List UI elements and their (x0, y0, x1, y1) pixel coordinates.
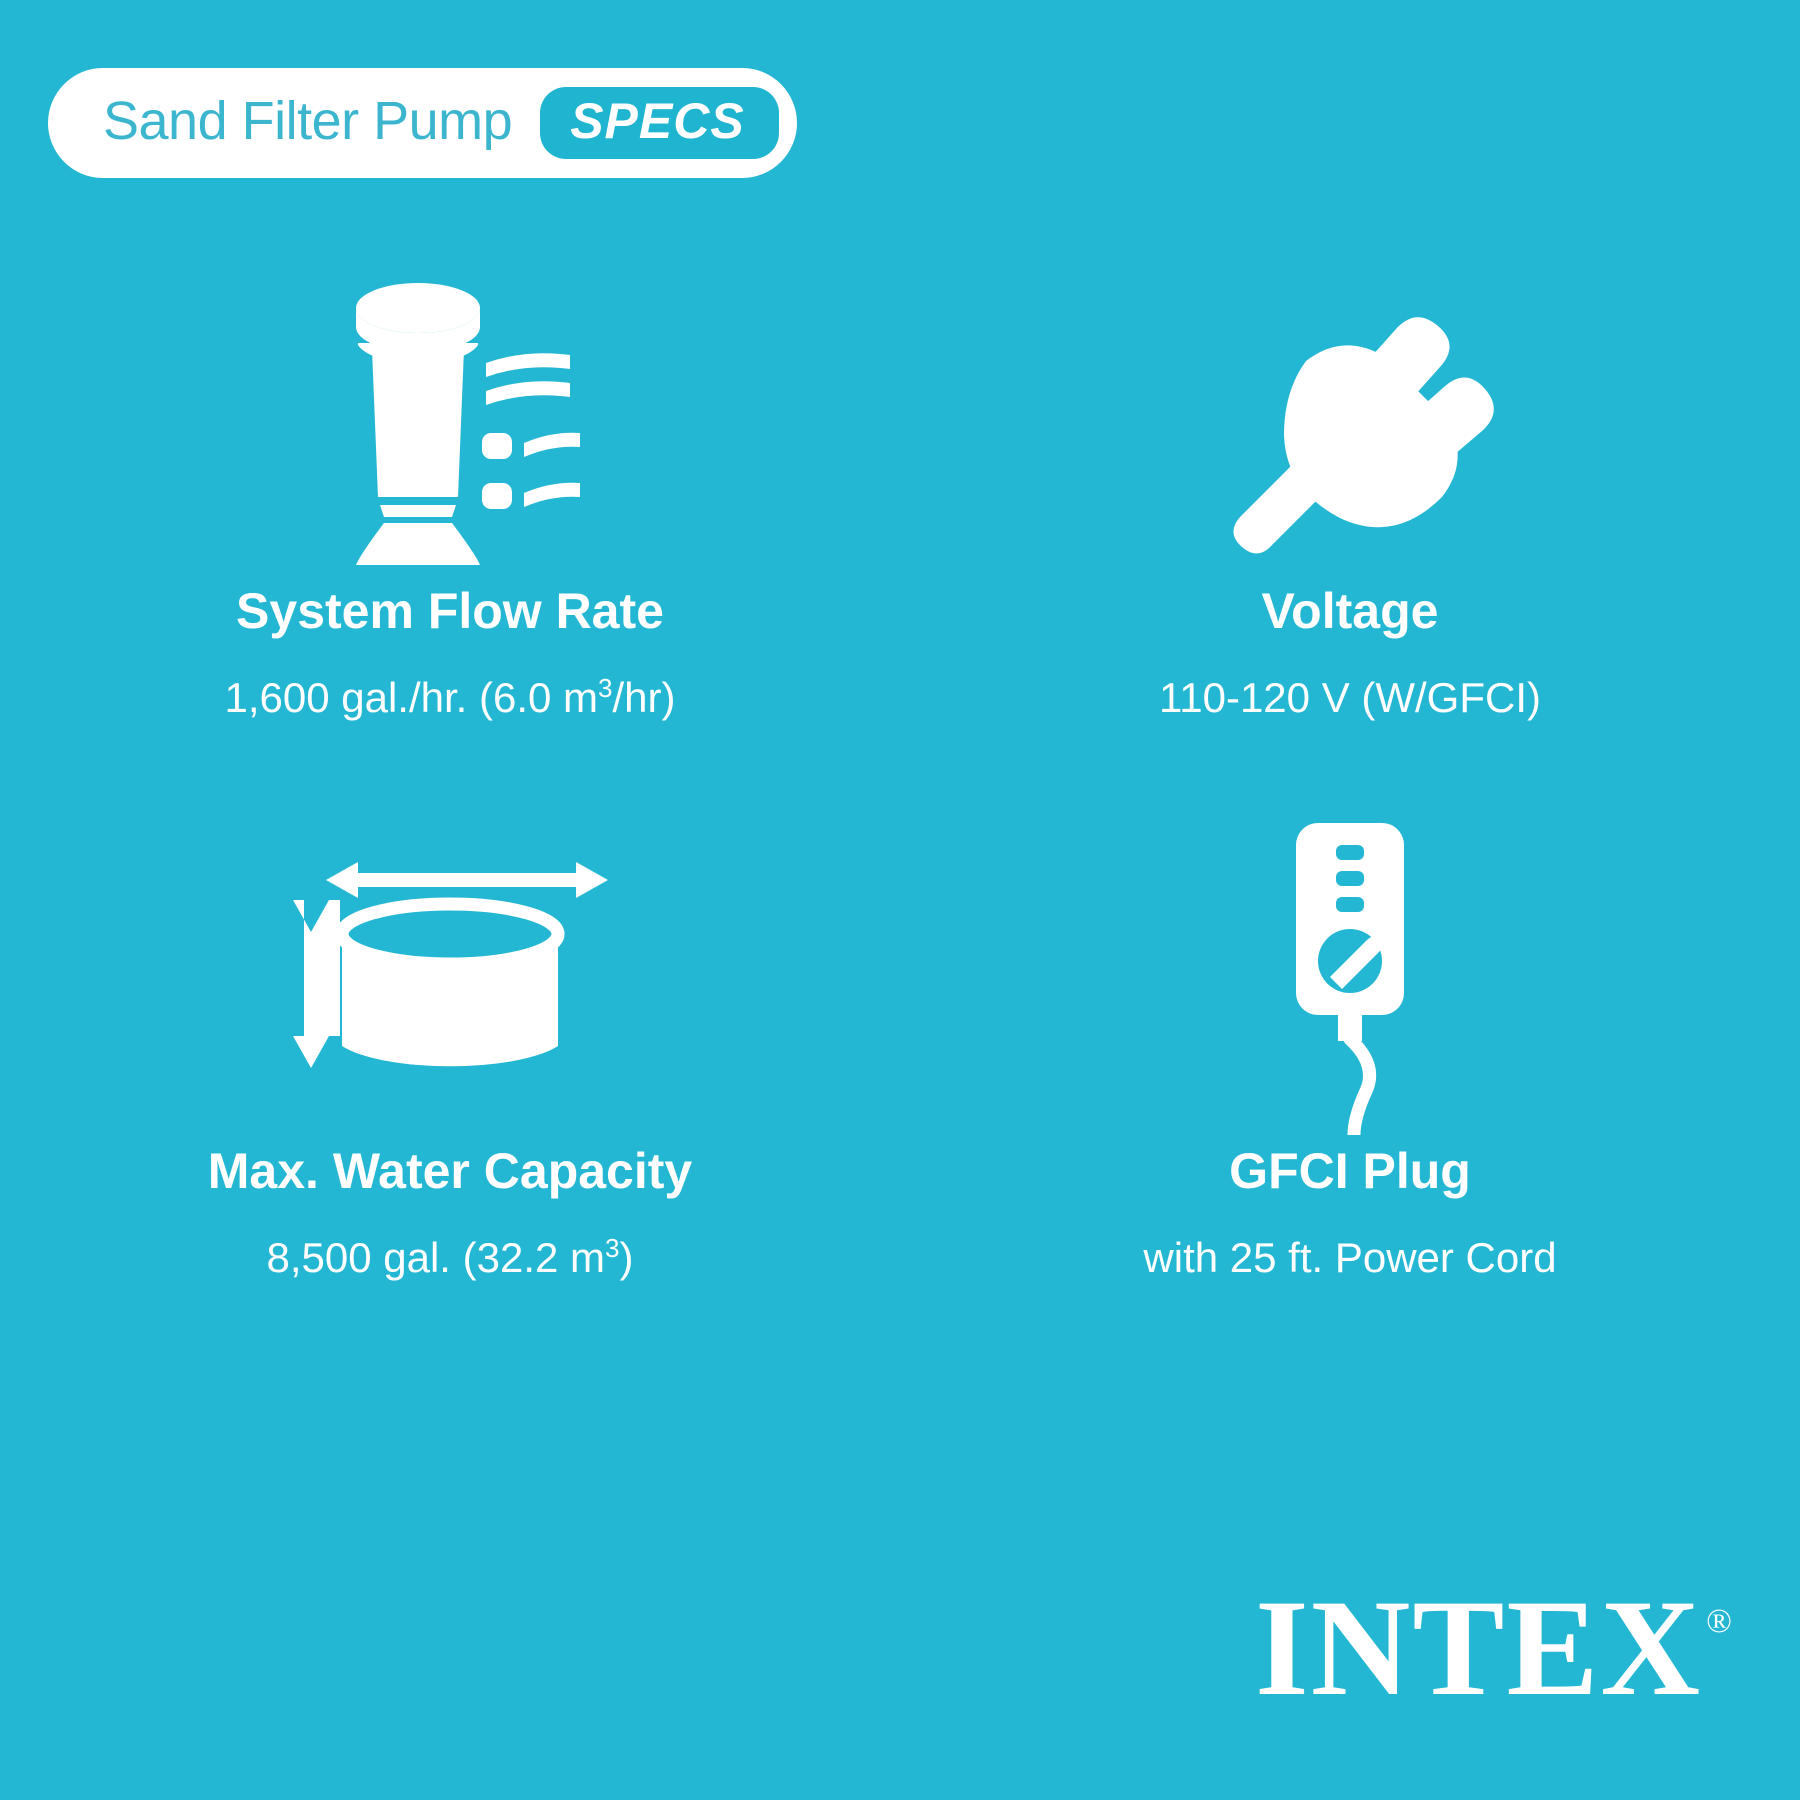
header-pill: Sand Filter Pump SPECS (48, 68, 797, 178)
spec-card-system-flow-rate: System Flow Rate 1,600 gal./hr. (6.0 m3/… (0, 250, 900, 810)
spec-value-suffix: ) (620, 1234, 634, 1281)
spec-value-superscript: 3 (598, 673, 612, 703)
page-title: Sand Filter Pump (103, 94, 512, 152)
power-plug-icon (1200, 250, 1500, 580)
spec-card-max-water-capacity: Max. Water Capacity 8,500 gal. (32.2 m3) (0, 810, 900, 1370)
spec-value: 110-120 V (W/GFCI) (1159, 673, 1541, 723)
status-badge: SPECS (540, 87, 779, 159)
spec-card-voltage: Voltage 110-120 V (W/GFCI) (900, 250, 1800, 810)
spec-value: 1,600 gal./hr. (6.0 m3/hr) (224, 673, 675, 723)
registered-trademark-icon: ® (1706, 1605, 1732, 1639)
spec-title: Voltage (1262, 584, 1439, 639)
spec-title: System Flow Rate (236, 584, 664, 639)
spec-value-suffix: /hr) (613, 674, 676, 721)
spec-title: Max. Water Capacity (208, 1144, 692, 1199)
gfci-plug-icon (1240, 810, 1460, 1140)
spec-value-prefix: with 25 ft. Power Cord (1143, 1234, 1556, 1281)
spec-value: with 25 ft. Power Cord (1143, 1233, 1556, 1283)
spec-value-superscript: 3 (605, 1233, 619, 1263)
brand-logo: INTEX ® (1255, 1589, 1732, 1708)
pump-icon (300, 250, 600, 580)
spec-value-prefix: 110-120 V (W/GFCI) (1159, 674, 1541, 721)
spec-card-gfci-plug: GFCI Plug with 25 ft. Power Cord (900, 810, 1800, 1370)
specs-grid: System Flow Rate 1,600 gal./hr. (6.0 m3/… (0, 250, 1800, 1370)
spec-value-prefix: 8,500 gal. (32.2 m (266, 1234, 605, 1281)
spec-value-prefix: 1,600 gal./hr. (6.0 m (224, 674, 598, 721)
pool-dimensions-icon (280, 810, 620, 1140)
spec-value: 8,500 gal. (32.2 m3) (266, 1233, 633, 1283)
brand-name: INTEX (1255, 1589, 1702, 1708)
spec-title: GFCI Plug (1229, 1144, 1471, 1199)
